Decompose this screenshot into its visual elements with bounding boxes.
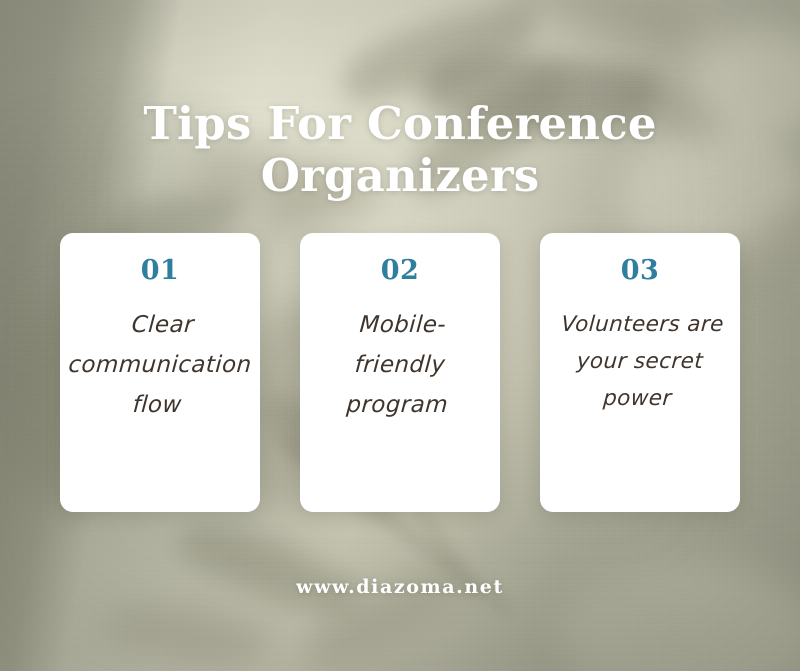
tip-number: 01 bbox=[141, 257, 180, 284]
tip-number: 02 bbox=[381, 257, 420, 284]
page-title: Tips For Conference Organizers bbox=[0, 98, 800, 202]
website-url[interactable]: www.diazoma.net bbox=[0, 576, 800, 598]
tip-card-01[interactable]: 01 Clear communication flow bbox=[60, 233, 260, 512]
tip-text: Volunteers are your secret power bbox=[543, 306, 737, 418]
tip-card-02[interactable]: 02 Mobile- friendly program bbox=[300, 233, 500, 512]
tip-text: Mobile- friendly program bbox=[303, 306, 497, 425]
tip-card-03[interactable]: 03 Volunteers are your secret power bbox=[540, 233, 740, 512]
tip-number: 03 bbox=[621, 257, 660, 284]
tip-text: Clear communication flow bbox=[63, 306, 257, 425]
poster-canvas: Tips For Conference Organizers 01 Clear … bbox=[0, 0, 800, 671]
tips-card-list: 01 Clear communication flow 02 Mobile- f… bbox=[60, 233, 740, 512]
